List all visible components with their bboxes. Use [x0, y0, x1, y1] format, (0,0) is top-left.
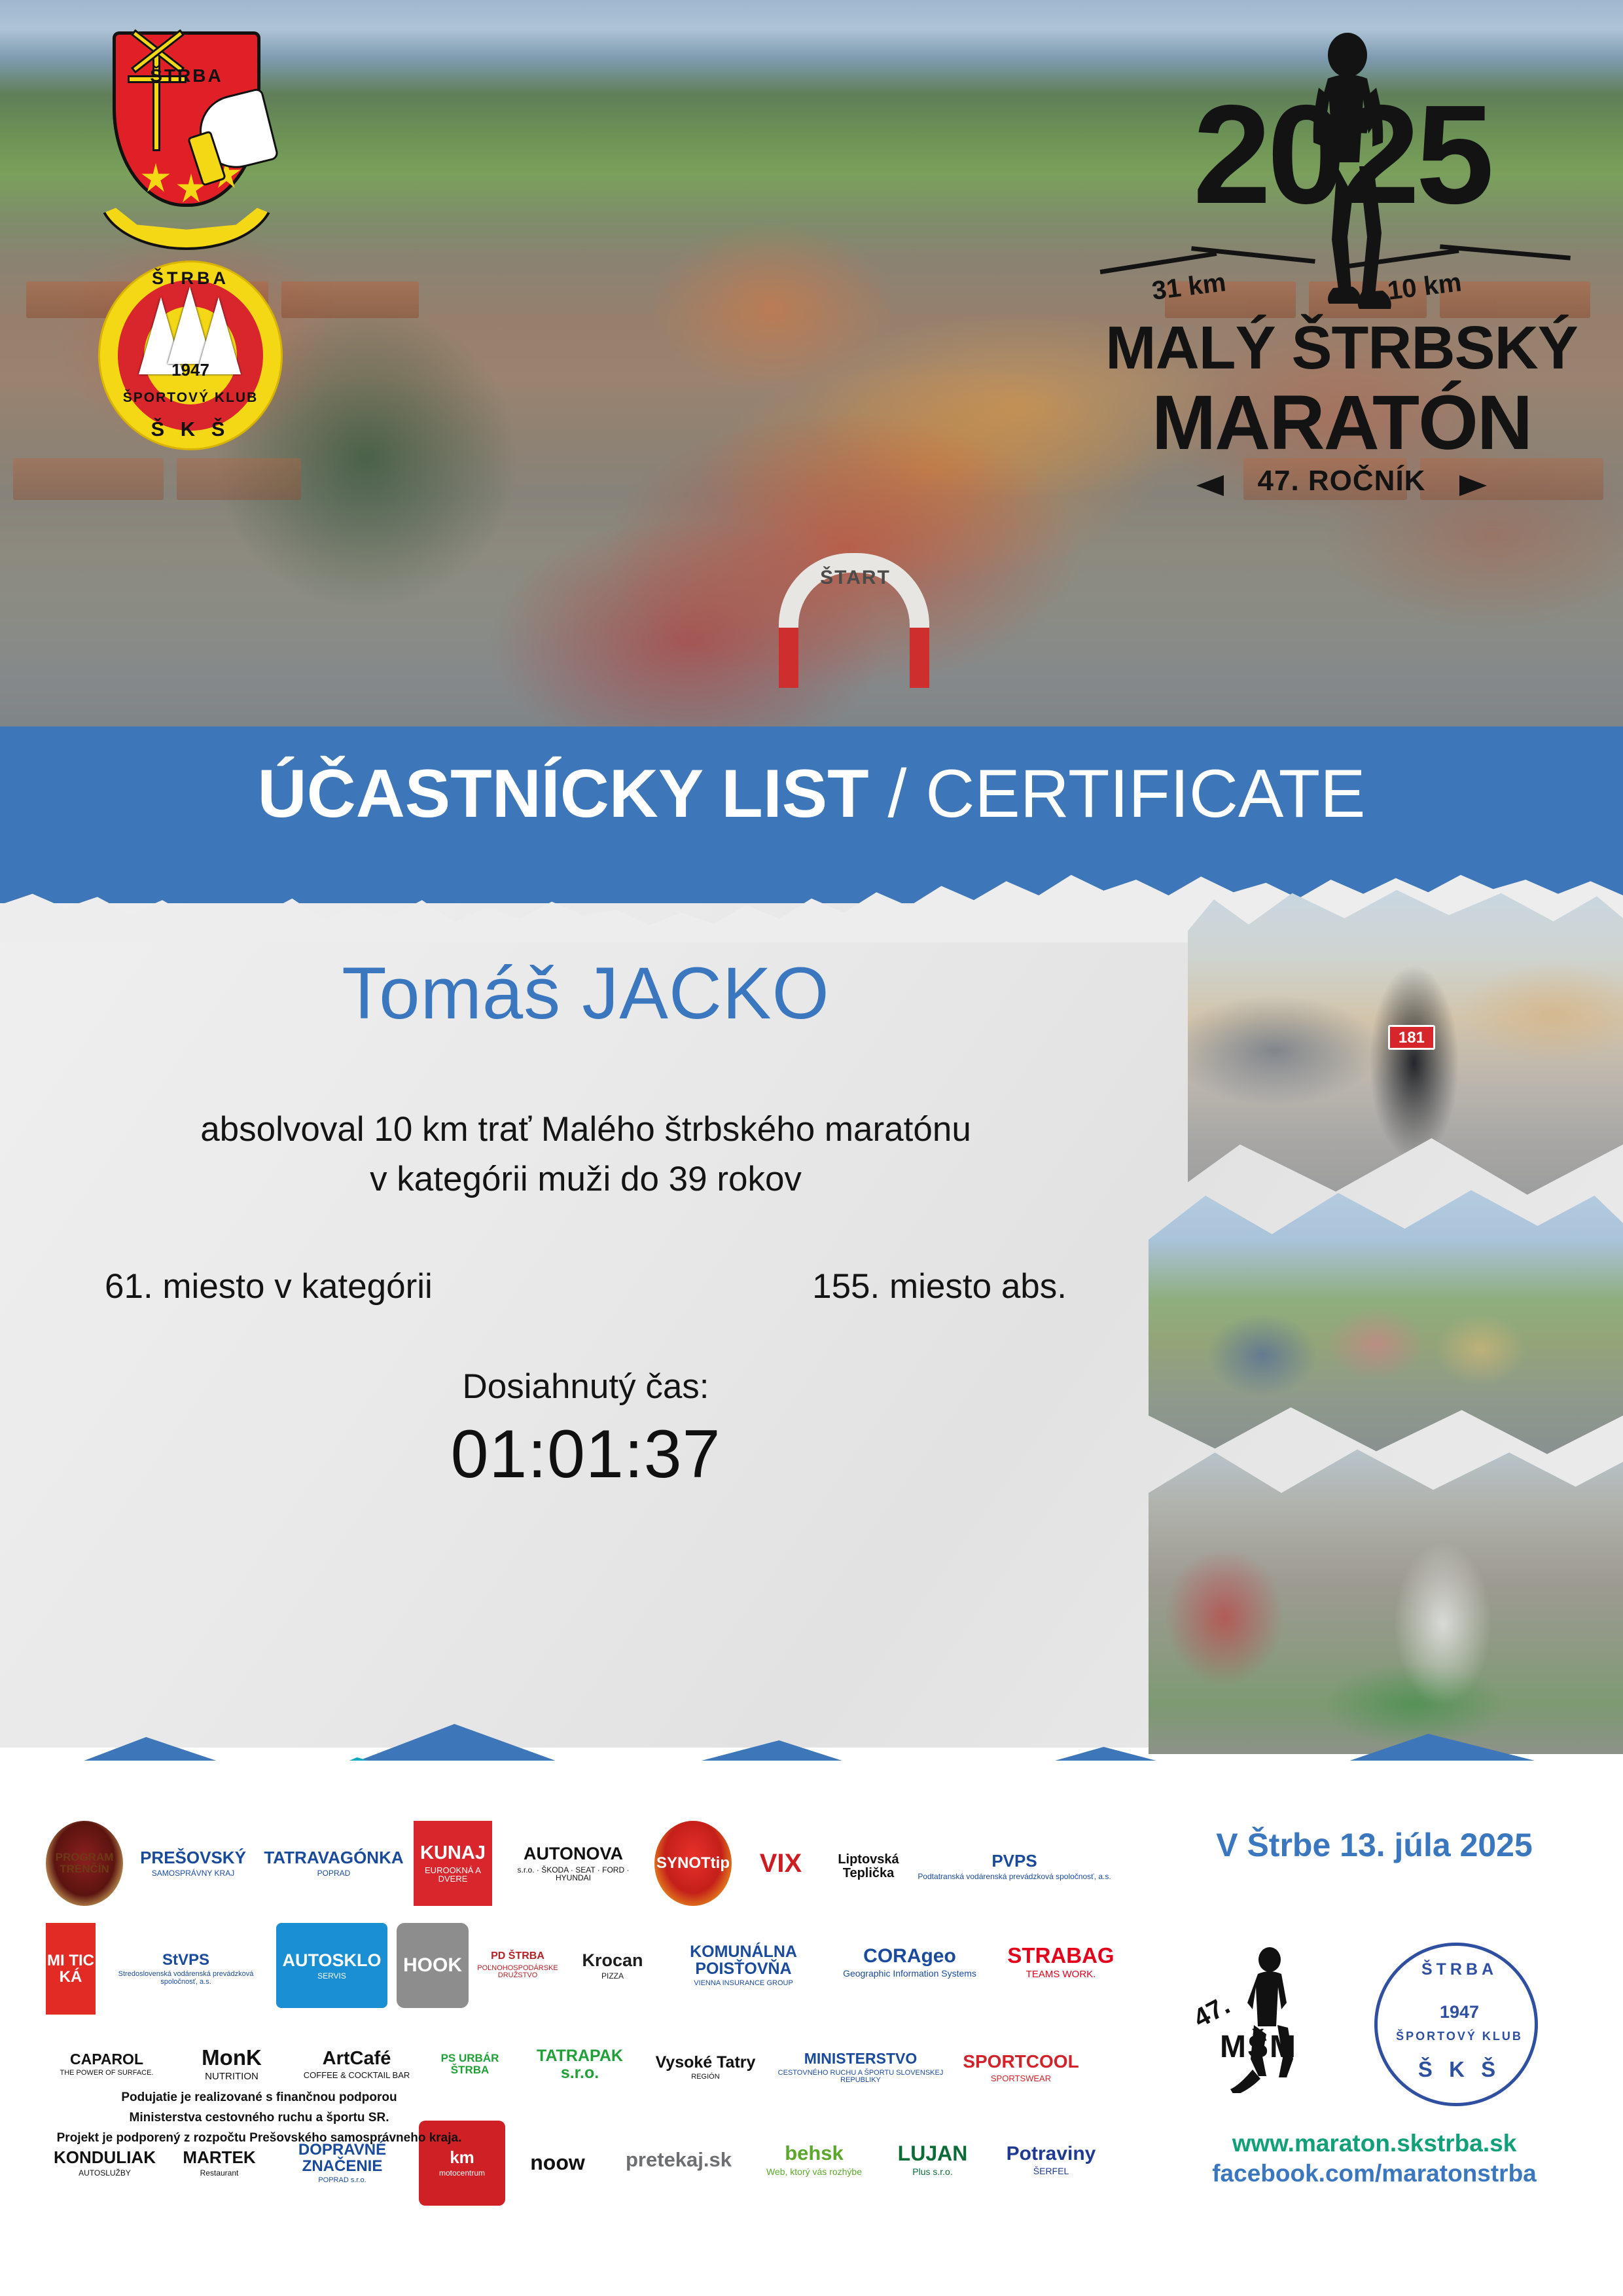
sponsor-name: MonK [202, 2047, 262, 2070]
funding-note-line-2: Ministerstva cestovného ruchu a športu S… [50, 2108, 469, 2128]
sponsor-tagline: SAMOSPRÁVNY KRAJ [140, 1869, 246, 1878]
collage-photo-finisher: 181 [1188, 887, 1623, 1201]
sponsor-name: PD ŠTRBA [477, 1951, 558, 1962]
sponsor-name: PREŠOVSKÝ [140, 1849, 246, 1867]
sponsor-tagline: POĽNOHOSPODÁRSKE DRUŽSTVO [477, 1965, 558, 1980]
sponsor-tagline: VIENNA INSURANCE GROUP [668, 1980, 819, 1988]
sponsor-name: Vysoké Tatry [656, 2054, 756, 2071]
sponsor-logo: SYNOTtip [654, 1821, 732, 1906]
sponsor-tagline: EUROOKNÁ A DVERE [414, 1866, 492, 1884]
sponsor-logo: SPORTCOOLSPORTSWEAR [957, 2025, 1085, 2110]
certificate-title-sk: ÚČASTNÍCKY LIST [257, 756, 868, 832]
crest-cross-vertical [152, 46, 160, 151]
certificate-title-banner: ÚČASTNÍCKY LIST / CERTIFICATE [0, 726, 1623, 903]
sponsor-tagline: Restaurant [183, 2169, 255, 2178]
sponsor-name: MARTEK [183, 2149, 255, 2166]
sponsor-logo: HOOK [397, 1923, 469, 2008]
sks-bottom-label: Š K Š [98, 418, 283, 441]
sponsor-name: KUNAJ [414, 1843, 492, 1863]
stamp-mid-label: ŠPORTOVÝ KLUB [1378, 2030, 1541, 2043]
sponsor-name: PVPS [918, 1852, 1111, 1870]
sponsor-tagline: COFFEE & COCKTAIL BAR [304, 2071, 410, 2080]
sponsor-logo: CORAgeoGeographic Information Systems [829, 1923, 991, 2001]
funding-note-line-3: Projekt je podporený z rozpočtu Prešovsk… [50, 2128, 469, 2149]
sponsor-tagline: REGIÓN [656, 2073, 756, 2081]
stamp-year-label: 1947 [1378, 2002, 1541, 2022]
sponsor-name: PROGRAM TRENČÍN [46, 1852, 123, 1875]
facebook-link[interactable]: facebook.com/maratonstrba [1158, 2160, 1590, 2187]
sponsor-logo: LUJANPlus s.r.o. [881, 2121, 984, 2199]
website-link[interactable]: www.maraton.skstrba.sk [1158, 2130, 1590, 2157]
sponsor-name: VIX [760, 1850, 802, 1877]
sponsor-name: Liptovská Teplička [830, 1853, 907, 1880]
crest-banner-label: ŠTRBA [98, 65, 275, 86]
sponsor-tagline: AUTOSLUŽBY [54, 2169, 156, 2178]
stamp-top-label: ŠTRBA [1378, 1960, 1541, 1979]
sponsor-logo: KUNAJEUROOKNÁ A DVERE [414, 1821, 492, 1906]
place-absolute: 155. miesto abs. [812, 1266, 1067, 1306]
sponsor-logo: MI TIC KÁ [46, 1923, 96, 2015]
sponsor-name: TATRAPAK s.r.o. [522, 2047, 637, 2082]
strba-municipal-crest: ŠTRBA [98, 27, 275, 250]
footer-badges: 47. MŠM ŠTRBA 1947 ŠPORTOVÝ KLUB Š K Š [1158, 1943, 1590, 2106]
sponsor-logo: Liptovská Teplička [830, 1821, 907, 1912]
sponsor-logo: behskWeb, ktorý vás rozhýbe [757, 2121, 872, 2199]
sponsor-tagline: SPORTSWEAR [963, 2074, 1079, 2083]
sponsor-name: AUTONOVA [501, 1844, 645, 1863]
sponsor-name: SPORTCOOL [963, 2052, 1079, 2071]
msm-label: MŠM [1220, 2029, 1297, 2065]
event-date: V Štrbe 13. júla 2025 [1158, 1826, 1590, 1864]
sponsor-name: PS URBÁR ŠTRBA [427, 2053, 513, 2076]
logo-distance-long: 31 km [1150, 268, 1228, 306]
sponsor-tagline: Plus s.r.o. [898, 2167, 968, 2177]
place-in-category: 61. miesto v kategórii [105, 1266, 433, 1306]
certificate-title-en: CERTIFICATE [925, 756, 1365, 832]
sponsor-tagline: Stredoslovenská vodárenská prevádzková s… [105, 1971, 267, 1986]
sponsor-tagline: ŠERFEL [1007, 2166, 1096, 2176]
sponsor-name: HOOK [403, 1955, 462, 1976]
sponsor-logo: StVPSStredoslovenská vodárenská prevádzk… [105, 1923, 267, 2015]
sponsor-name: CAPAROL [60, 2051, 153, 2067]
sponsor-logo: Vysoké TatryREGIÓN [647, 2025, 764, 2110]
certificate-content: Tomáš JACKO absolvoval 10 km trať Malého… [0, 952, 1171, 1494]
sponsor-logo: KrocanPIZZA [567, 1923, 658, 2008]
sponsor-name: CORAgeo [843, 1946, 976, 1967]
sponsor-logo: STRABAGTEAMS WORK. [1000, 1923, 1122, 2001]
sponsor-logo: PVPSPodtatranská vodárenská prevádzková … [916, 1821, 1113, 1912]
sponsor-logo: noow [514, 2121, 601, 2206]
sponsor-tagline: NUTRITION [202, 2072, 262, 2082]
sponsor-name: AUTOSKLO [282, 1951, 381, 1969]
arrow-right-icon [1459, 475, 1487, 496]
funding-note: Podujatie je realizované s finančnou pod… [50, 2088, 469, 2148]
sks-mid-label: ŠPORTOVÝ KLUB [98, 390, 283, 406]
sponsor-tagline: PIZZA [582, 1972, 643, 1981]
achievement-line-2: v kategórii muži do 39 rokov [0, 1155, 1171, 1204]
event-logo: 2025 31 km 10 km MALÝ ŠTRBSKÝ MARATÓN [1073, 26, 1610, 602]
sponsor-logo-grid: PROGRAM TRENČÍNPREŠOVSKÝSAMOSPRÁVNY KRAJ… [46, 1821, 1152, 2216]
sks-year-label: 1947 [98, 360, 283, 380]
web-links: www.maraton.skstrba.sk facebook.com/mara… [1158, 2130, 1590, 2187]
sponsor-tagline: Web, ktorý vás rozhýbe [766, 2167, 862, 2177]
sponsor-tagline: motocentrum [439, 2169, 485, 2178]
crest-shield [113, 31, 260, 207]
sponsor-name: TATRAVAGÓNKA [264, 1849, 403, 1867]
athlete-name: Tomáš JACKO [0, 952, 1171, 1034]
sponsor-tagline: THE POWER OF SURFACE. [60, 2070, 153, 2077]
sponsor-tagline: Podtatranská vodárenská prevádzková spol… [918, 1873, 1111, 1881]
sponsor-tagline: s.r.o. · ŠKODA · SEAT · FORD · HYUNDAI [501, 1866, 645, 1882]
sponsor-name: behsk [766, 2143, 862, 2164]
finish-time-value: 01:01:37 [0, 1416, 1171, 1494]
msm-badge: 47. MŠM [1190, 1943, 1340, 2093]
stamp-bottom-label: Š K Š [1378, 2057, 1541, 2082]
sponsor-name: MINISTERSTVO [774, 2051, 948, 2066]
start-arch [779, 553, 929, 632]
collage-photo-runners-group [1149, 1185, 1623, 1460]
sks-top-label: ŠTRBA [98, 268, 283, 289]
sponsor-tagline: SERVIS [282, 1972, 381, 1981]
certificate-page: ŠTART ŠTRBA ŠTRBA 1947 ŠPORTOVÝ KLUB Š K… [0, 0, 1623, 2296]
logo-event-name-line2: MARATÓN [1073, 378, 1610, 467]
sponsor-name: Potraviny [1007, 2144, 1096, 2164]
time-label: Dosiahnutý čas: [0, 1367, 1171, 1407]
sponsor-logo: KOMUNÁLNA POISŤOVŇAVIENNA INSURANCE GROU… [668, 1923, 819, 2008]
sponsor-logo: AUTONOVAs.r.o. · ŠKODA · SEAT · FORD · H… [501, 1821, 645, 1906]
sponsor-logo: TATRAVAGÓNKAPOPRAD [263, 1821, 404, 1906]
sponsor-name: LUJAN [898, 2143, 968, 2165]
crest-star [141, 163, 171, 193]
sponsor-footer: PROGRAM TRENČÍNPREŠOVSKÝSAMOSPRÁVNY KRAJ… [0, 1761, 1623, 2296]
sks-club-badge: ŠTRBA 1947 ŠPORTOVÝ KLUB Š K Š [98, 260, 283, 450]
sponsor-tagline: Geographic Information Systems [843, 1969, 976, 1979]
sponsor-tagline: POPRAD [264, 1869, 403, 1878]
sponsor-name: noow [530, 2152, 585, 2174]
sponsor-name: STRABAG [1007, 1945, 1114, 1967]
placement-row: 61. miesto v kategórii 155. miesto abs. [0, 1266, 1171, 1306]
footer-right-column: V Štrbe 13. júla 2025 47. M [1158, 1826, 1590, 2187]
sponsor-tagline: CESTOVNÉHO RUCHU A ŠPORTU SLOVENSKEJ REP… [774, 2070, 948, 2085]
sponsor-name: KOMUNÁLNA POISŤOVŇA [668, 1943, 819, 1978]
sponsor-name: pretekaj.sk [626, 2149, 732, 2171]
sponsor-logo: PD ŠTRBAPOĽNOHOSPODÁRSKE DRUŽSTVO [478, 1923, 558, 2008]
logo-distance-short: 10 km [1386, 268, 1463, 306]
runner-silhouette-icon [1299, 31, 1397, 339]
sponsor-name: MI TIC KÁ [46, 1952, 96, 1985]
sponsor-logo: AUTOSKLOSERVIS [276, 1923, 387, 2008]
certificate-title: ÚČASTNÍCKY LIST / CERTIFICATE [0, 755, 1623, 833]
sponsor-name: SYNOTtip [656, 1855, 730, 1871]
sponsor-name: ArtCafé [304, 2049, 410, 2068]
runner-bib-number: 181 [1388, 1025, 1435, 1050]
sks-stamp: ŠTRBA 1947 ŠPORTOVÝ KLUB Š K Š [1374, 1943, 1538, 2106]
sponsor-logo: VIX [741, 1821, 821, 1906]
race-photo-collage: 181 [1149, 887, 1623, 1754]
sponsor-name: StVPS [105, 1952, 267, 1968]
mountain-ridge-icon [1440, 244, 1571, 260]
sponsor-logo: TATRAPAK s.r.o. [522, 2025, 637, 2104]
sponsor-tagline: POPRAD s.r.o. [275, 2177, 410, 2185]
sponsor-tagline: TEAMS WORK. [1007, 1969, 1114, 1980]
sponsor-name: Krocan [582, 1951, 643, 1969]
achievement-text: absolvoval 10 km trať Malého štrbského m… [0, 1105, 1171, 1204]
sponsor-logo: MINISTERSTVOCESTOVNÉHO RUCHU A ŠPORTU SL… [774, 2025, 948, 2110]
sponsor-logo: pretekaj.sk [610, 2121, 747, 2199]
achievement-line-1: absolvoval 10 km trať Malého štrbského m… [0, 1105, 1171, 1154]
sponsor-logo: PREŠOVSKÝSAMOSPRÁVNY KRAJ [132, 1821, 254, 1906]
logo-edition-label: 47. ROČNÍK [1073, 465, 1610, 497]
sponsor-name: KONDULIAK [54, 2149, 156, 2166]
certificate-title-separator: / [869, 756, 926, 832]
funding-note-line-1: Podujatie je realizované s finančnou pod… [50, 2088, 469, 2108]
sponsor-name: km [439, 2149, 485, 2166]
sponsor-logo: PROGRAM TRENČÍN [46, 1821, 123, 1906]
sponsor-logo: PotravinyŠERFEL [993, 2121, 1109, 2199]
start-arch-label: ŠTART [806, 567, 904, 589]
